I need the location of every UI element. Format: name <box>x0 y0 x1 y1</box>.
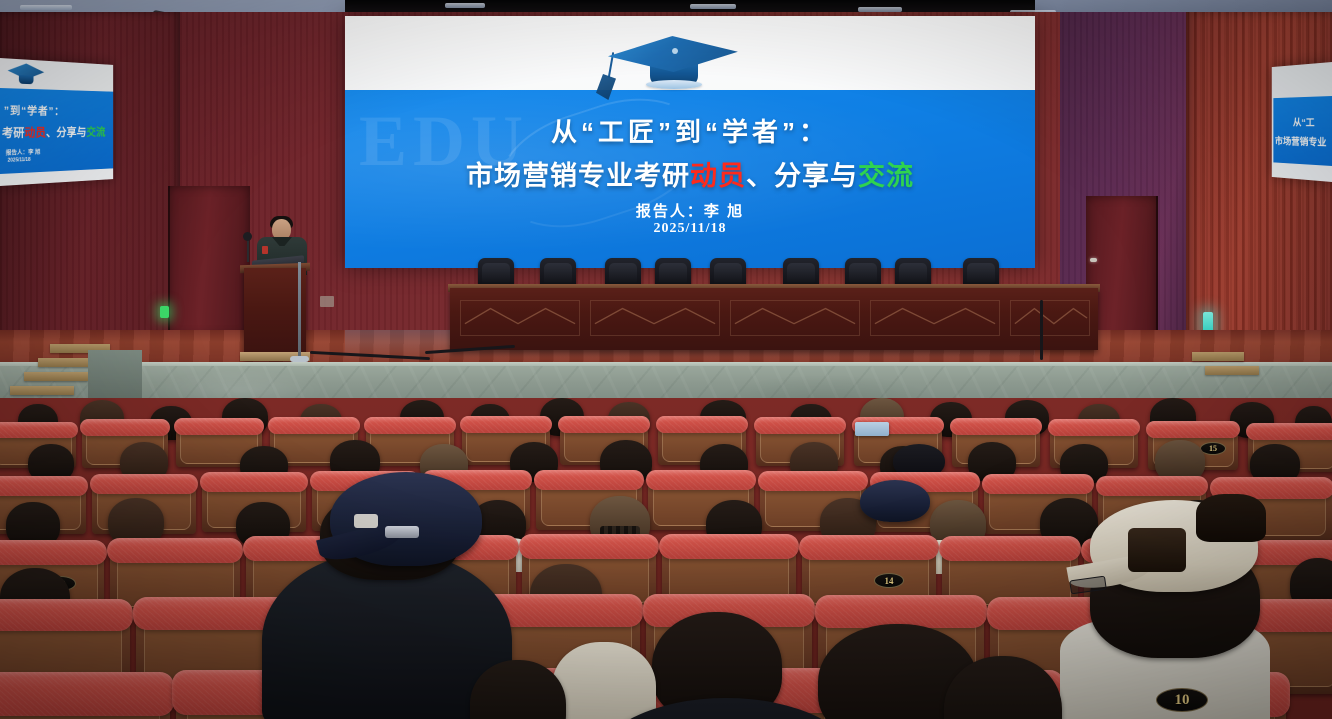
side-left-presenter: 报告人：李 旭 <box>6 147 41 157</box>
slide-title-line1: 从“工匠”到“学者”： <box>345 112 1035 149</box>
table-panel <box>870 300 1000 336</box>
cap-mortarboard <box>607 34 738 79</box>
cap-band <box>646 80 702 89</box>
table-panel <box>730 300 860 336</box>
table-panel <box>460 300 580 336</box>
theatre-seat[interactable] <box>0 690 170 719</box>
seat-number-plate: 15 <box>1200 442 1226 455</box>
wall-socket <box>320 296 334 307</box>
side-screen-right: 从“工 市场营销专业 <box>1272 62 1332 182</box>
side-right-line2: 市场营销专业 <box>1275 133 1326 149</box>
side-left-l2-white: 考研 <box>2 126 25 140</box>
floor-mic-stand <box>298 262 301 360</box>
slide-l2-emphasis-red: 动员 <box>690 161 746 191</box>
side-left-l2-red: 动员 <box>24 126 46 140</box>
green-exit-light <box>160 306 169 318</box>
cap-button <box>672 48 678 54</box>
tablet-device[interactable] <box>855 422 889 436</box>
recessed-ceiling-light <box>445 3 485 8</box>
stage-step <box>10 386 74 395</box>
side-left-line1: ”到“学者”： <box>4 102 65 118</box>
slide-presenter: 报告人：李 旭 <box>345 200 1035 221</box>
side-right-line1: 从“工 <box>1293 114 1315 129</box>
face-mask <box>354 514 378 528</box>
black-cap <box>860 480 930 522</box>
audience-seating: 15 15 <box>0 398 1332 719</box>
lecture-hall-photo: ”到“学者”： 考研动员、分享与交流 报告人：李 旭 2025/11/18 从“… <box>0 0 1332 719</box>
recessed-ceiling-light <box>690 4 736 9</box>
podium <box>244 268 306 360</box>
table-panel <box>590 300 720 336</box>
conference-table <box>450 288 1098 350</box>
zigzag-decoration <box>731 301 859 335</box>
zigzag-decoration <box>871 301 999 335</box>
stage-step-side <box>88 350 142 400</box>
stage-step <box>1192 352 1244 361</box>
side-left-line2: 考研动员、分享与交流 <box>2 124 106 141</box>
stage-step <box>24 372 88 381</box>
side-left-l2-rest: 、分享与 <box>46 126 86 140</box>
zigzag-decoration <box>1011 301 1089 335</box>
zigzag-decoration <box>461 301 579 335</box>
stage-door-left[interactable] <box>168 186 250 336</box>
seat-number-plate: 10 <box>1156 688 1208 712</box>
door-handle[interactable] <box>1090 258 1097 262</box>
cream-cap-person-hair-tuft <box>1128 528 1186 572</box>
attendee-light-coat <box>552 642 656 719</box>
slide-l2-prefix: 市场营销专业考研 <box>466 161 690 191</box>
zigzag-decoration <box>591 301 719 335</box>
side-left-date: 2025/11/18 <box>8 157 31 164</box>
table-panel <box>1010 300 1090 336</box>
stage-step <box>1205 366 1259 375</box>
slide-l2-emphasis-green: 交流 <box>858 161 914 191</box>
side-screen-left: ”到“学者”： 考研动员、分享与交流 报告人：李 旭 2025/11/18 <box>0 58 113 186</box>
seat-number-plate: 14 <box>874 573 904 588</box>
podium-microphone <box>243 232 252 241</box>
attendee-head <box>1196 494 1266 542</box>
podium-microphone-stem <box>247 238 249 262</box>
slide-title-line2: 市场营销专业考研动员、分享与交流 <box>345 154 1035 193</box>
speaker-badge <box>262 246 268 254</box>
side-left-l2-green: 交流 <box>86 126 105 139</box>
door-seam <box>1156 196 1158 346</box>
graduation-cap-icon <box>588 30 758 92</box>
recessed-ceiling-light <box>20 5 72 10</box>
slide-date: 2025/11/18 <box>345 221 1035 237</box>
cap-strap <box>385 526 419 538</box>
slide-l2-middle: 、分享与 <box>746 161 858 191</box>
wall-cable <box>1040 300 1043 360</box>
main-projection-screen: EDU 从“工匠”到“学者”： 市场营销专业考研动员、分享与交流 报告人：李 旭… <box>345 16 1035 268</box>
